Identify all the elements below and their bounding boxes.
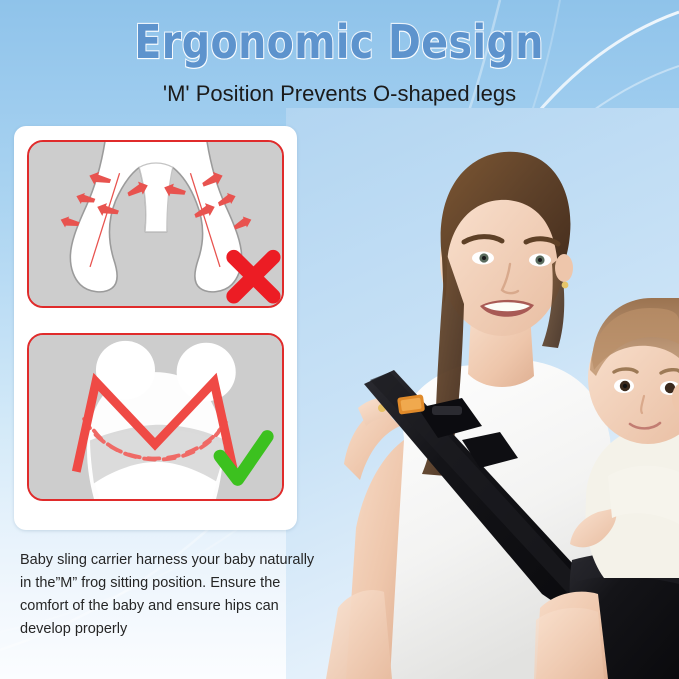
description-text: Baby sling carrier harness your baby nat… — [20, 549, 320, 641]
subheadline-container: 'M' Position Prevents O-shaped legs — [0, 80, 679, 108]
page-title: Ergonomic Design — [135, 16, 545, 68]
headline-container: Ergonomic Design — [0, 16, 679, 68]
page-subtitle: 'M' Position Prevents O-shaped legs — [163, 80, 516, 108]
m-position-illustration — [29, 335, 282, 499]
promo-poster: Ergonomic Design 'M' Position Prevents O… — [0, 0, 679, 679]
o-shaped-legs-illustration — [29, 142, 282, 306]
product-photo — [286, 108, 679, 679]
brand-label-tag — [397, 394, 425, 414]
photo-illustration — [286, 108, 679, 679]
panel-o-shaped-legs — [27, 140, 284, 308]
panel-m-position — [27, 333, 284, 501]
diagram-card — [14, 126, 297, 530]
